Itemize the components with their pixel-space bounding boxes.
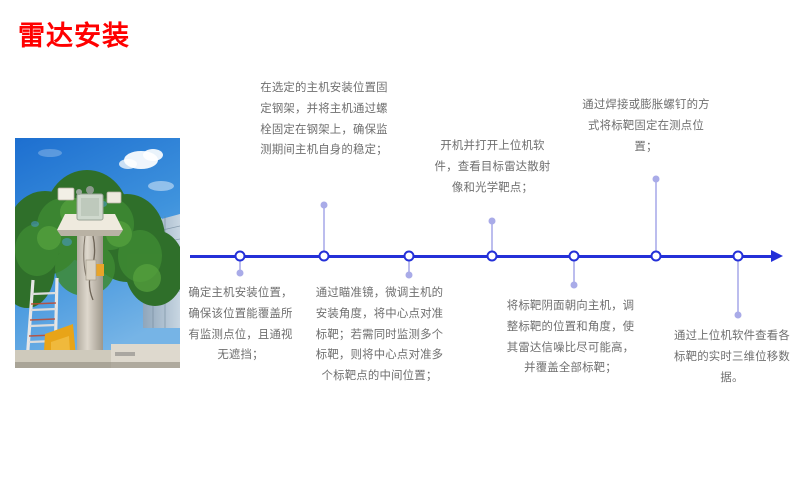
timeline-step-3-text: 通过瞄准镜，微调主机的安装角度，将中心点对准标靶；若需同时监测多个标靶，则将中心… [313,283,446,387]
timeline-node-2[interactable] [319,251,330,262]
connector-dot-4 [489,218,496,225]
timeline-node-6[interactable] [651,251,662,262]
timeline-step-4-text: 开机并打开上位机软件，查看目标雷达散射像和光学靶点； [432,136,553,198]
page-title: 雷达安装 [18,22,130,52]
connector-dot-7 [735,312,742,319]
connector-dot-2 [321,202,328,209]
timeline-step-7-text: 通过上位机软件查看各标靶的实时三维位移数据。 [669,326,795,388]
connector-dot-3 [406,272,413,279]
connector-stem-7 [737,258,739,314]
timeline-node-3[interactable] [404,251,415,262]
timeline-line [190,255,776,258]
connector-stem-5 [573,258,575,284]
timeline-node-4[interactable] [487,251,498,262]
connector-stem-6 [655,180,657,256]
timeline-node-5[interactable] [569,251,580,262]
timeline-node-7[interactable] [733,251,744,262]
radar-installation-photo [15,138,180,368]
connector-dot-5 [571,282,578,289]
connector-dot-6 [653,176,660,183]
connector-stem-2 [323,206,325,256]
timeline-arrow-icon [771,250,783,262]
slide-canvas: 雷达安装 [0,0,800,480]
photo-illustration [15,138,180,368]
timeline-step-6-text: 通过焊接或膨胀螺钉的方式将标靶固定在测点位置； [581,95,711,157]
timeline-step-5-text: 将标靶阴面朝向主机，调整标靶的位置和角度，使其雷达信噪比尽可能高，并覆盖全部标靶… [505,296,636,379]
timeline-step-2-text: 在选定的主机安装位置固定钢架，并将主机通过螺栓固定在钢架上，确保监测期间主机自身… [256,78,392,161]
timeline-node-1[interactable] [235,251,246,262]
timeline-step-1-text: 确定主机安装位置，确保该位置能覆盖所有监测点位，且通视无遮挡； [183,283,298,366]
connector-dot-1 [237,270,244,277]
